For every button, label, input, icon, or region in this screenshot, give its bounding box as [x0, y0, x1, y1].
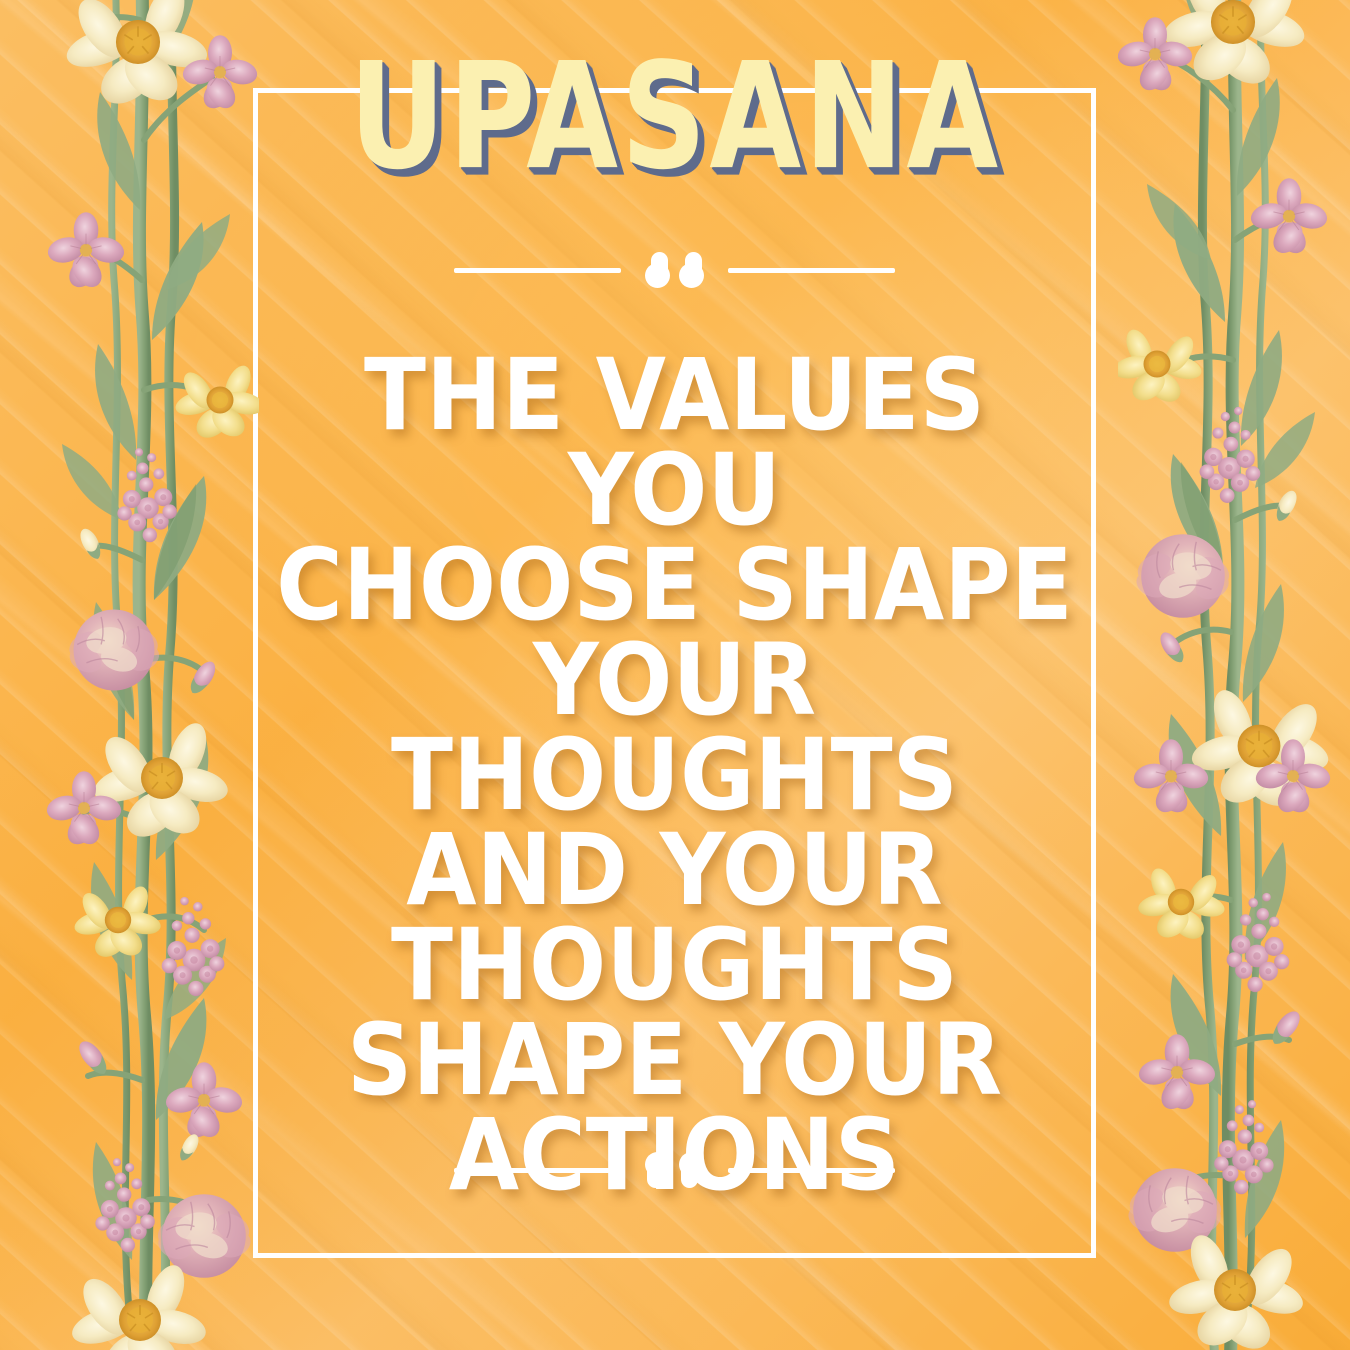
- quote-mark-4: [645, 1152, 670, 1188]
- quote-line-6: SHAPE YOUR: [245, 1013, 1105, 1108]
- ornament-top: [253, 252, 1096, 288]
- ornament-rule-left-bottom: [454, 1168, 621, 1173]
- quote-mark-3: [679, 1152, 704, 1188]
- quote-mark-1: [645, 252, 670, 288]
- ornament-rule-right: [728, 268, 895, 273]
- quote-line-4: AND YOUR: [245, 823, 1105, 918]
- open-quote-icon: [645, 252, 704, 288]
- ornament-rule-right-bottom: [728, 1168, 895, 1173]
- quote-line-1: THE VALUES YOU: [245, 348, 1105, 538]
- quote-block: THE VALUES YOU CHOOSE SHAPE YOUR THOUGHT…: [253, 348, 1096, 1203]
- close-quote-icon: [645, 1152, 704, 1188]
- quote-poster: UPASANA THE VALUES YOU CHOOSE SHAPE YOUR…: [0, 0, 1350, 1350]
- poster-title: UPASANA: [332, 44, 1019, 191]
- quote-mark-2: [679, 252, 704, 288]
- quote-line-5: THOUGHTS: [245, 918, 1105, 1013]
- quote-line-3: YOUR THOUGHTS: [245, 633, 1105, 823]
- quote-line-2: CHOOSE SHAPE: [245, 538, 1105, 633]
- ornament-rule-left: [454, 268, 621, 273]
- poster-title-container: UPASANA: [0, 44, 1350, 180]
- ornament-bottom: [253, 1152, 1096, 1188]
